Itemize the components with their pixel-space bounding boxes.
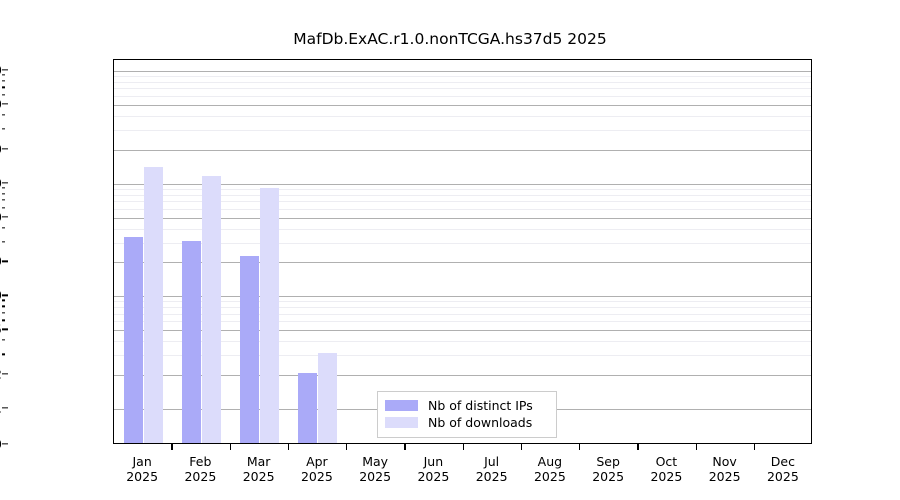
x-tick-label: Mar2025 [243,454,275,484]
bar-dls-mar [260,188,279,443]
y-tick-mark-minor [2,87,6,88]
x-tick-month: May [359,454,391,469]
y-tick-mark-minor [2,227,6,228]
x-tick-mark [754,444,755,450]
gridline [114,96,811,97]
x-tick-mark [637,444,638,450]
bar-ips-mar [240,256,259,443]
y-tick-mark-minor [2,80,6,81]
x-tick-year: 2025 [767,469,799,484]
x-tick-label: Jul2025 [476,454,508,484]
y-tick-mark-minor [2,312,6,313]
y-tick-mark [2,261,8,262]
x-tick-label: Oct2025 [650,454,682,484]
x-tick-month: Apr [301,454,333,469]
gridline [114,82,811,83]
y-tick-mark-minor [2,306,6,307]
y-tick-mark [2,329,8,330]
y-tick-mark-minor [2,241,6,242]
x-tick-mark [579,444,580,450]
y-tick-mark-minor [2,114,6,115]
y-tick-mark [2,103,8,104]
x-tick-label: Sep2025 [592,454,624,484]
y-tick-mark-minor [2,128,6,129]
x-tick-year: 2025 [592,469,624,484]
gridline [114,116,811,117]
x-tick-month: Jul [476,454,508,469]
gridline [114,88,811,89]
y-tick-mark-minor [2,354,6,355]
x-tick-label: Jun2025 [417,454,449,484]
x-tick-mark [521,444,522,450]
legend-label-downloads: Nb of downloads [428,415,532,430]
x-tick-mark [288,444,289,450]
x-axis: Jan2025Feb2025Mar2025Apr2025May2025Jun20… [0,444,900,500]
y-tick-mark [2,295,8,296]
x-tick-month: Jan [126,454,158,469]
gridline [114,71,811,72]
x-tick-month: Aug [534,454,566,469]
chart-figure: MafDb.ExAC.r1.0.nonTCGA.hs37d5 2025 0125… [0,0,900,500]
legend-swatch-icon-downloads [385,417,418,428]
chart-title: MafDb.ExAC.r1.0.nonTCGA.hs37d5 2025 [0,30,900,48]
chart-legend: Nb of distinct IPs Nb of downloads [377,391,557,438]
x-tick-label: Jan2025 [126,454,158,484]
y-tick-mark [2,407,8,408]
x-tick-year: 2025 [476,469,508,484]
y-axis: 01251020501002005001000 [0,0,113,500]
x-tick-year: 2025 [126,469,158,484]
x-tick-label: Dec2025 [767,454,799,484]
y-tick-mark-minor [2,207,6,208]
x-tick-year: 2025 [184,469,216,484]
x-tick-month: Mar [243,454,275,469]
x-tick-label: Feb2025 [184,454,216,484]
y-tick-mark [2,216,8,217]
x-tick-year: 2025 [709,469,741,484]
x-tick-mark [696,444,697,450]
y-tick-mark-minor [2,340,6,341]
x-tick-label: Nov2025 [709,454,741,484]
legend-swatch-icon-ips [385,400,418,411]
bar-ips-apr [298,373,317,443]
x-tick-month: Sep [592,454,624,469]
x-tick-mark [171,444,172,450]
x-tick-mark [346,444,347,450]
bar-dls-feb [202,176,221,443]
x-tick-label: May2025 [359,454,391,484]
plot-area [113,59,812,444]
y-tick-mark-minor [2,94,6,95]
y-tick-mark-minor [2,199,6,200]
x-tick-month: Nov [709,454,741,469]
bar-ips-jan [124,237,143,443]
y-tick-mark [2,373,8,374]
y-tick-mark [2,69,8,70]
x-tick-mark [463,444,464,450]
gridline [114,105,811,106]
y-tick-mark [2,182,8,183]
legend-item-ips: Nb of distinct IPs [385,397,549,414]
x-tick-year: 2025 [243,469,275,484]
gridline [114,130,811,131]
bar-dls-jan [144,167,163,443]
x-tick-month: Jun [417,454,449,469]
legend-label-ips: Nb of distinct IPs [428,398,533,413]
x-tick-month: Dec [767,454,799,469]
x-tick-label: Aug2025 [534,454,566,484]
bar-ips-feb [182,241,201,443]
x-tick-month: Feb [184,454,216,469]
x-tick-year: 2025 [650,469,682,484]
x-tick-year: 2025 [534,469,566,484]
bar-dls-apr [318,353,337,443]
gridline [114,76,811,77]
gridline [114,150,811,151]
x-tick-year: 2025 [301,469,333,484]
x-tick-year: 2025 [417,469,449,484]
x-tick-year: 2025 [359,469,391,484]
x-tick-month: Oct [650,454,682,469]
legend-item-downloads: Nb of downloads [385,414,549,431]
y-tick-mark-minor [2,187,6,188]
x-tick-mark [404,444,405,450]
y-tick-mark-minor [2,74,6,75]
y-tick-mark [2,148,8,149]
x-tick-mark [230,444,231,450]
y-tick-mark-minor [2,320,6,321]
y-tick-mark-minor [2,300,6,301]
y-tick-mark-minor [2,193,6,194]
x-tick-label: Apr2025 [301,454,333,484]
